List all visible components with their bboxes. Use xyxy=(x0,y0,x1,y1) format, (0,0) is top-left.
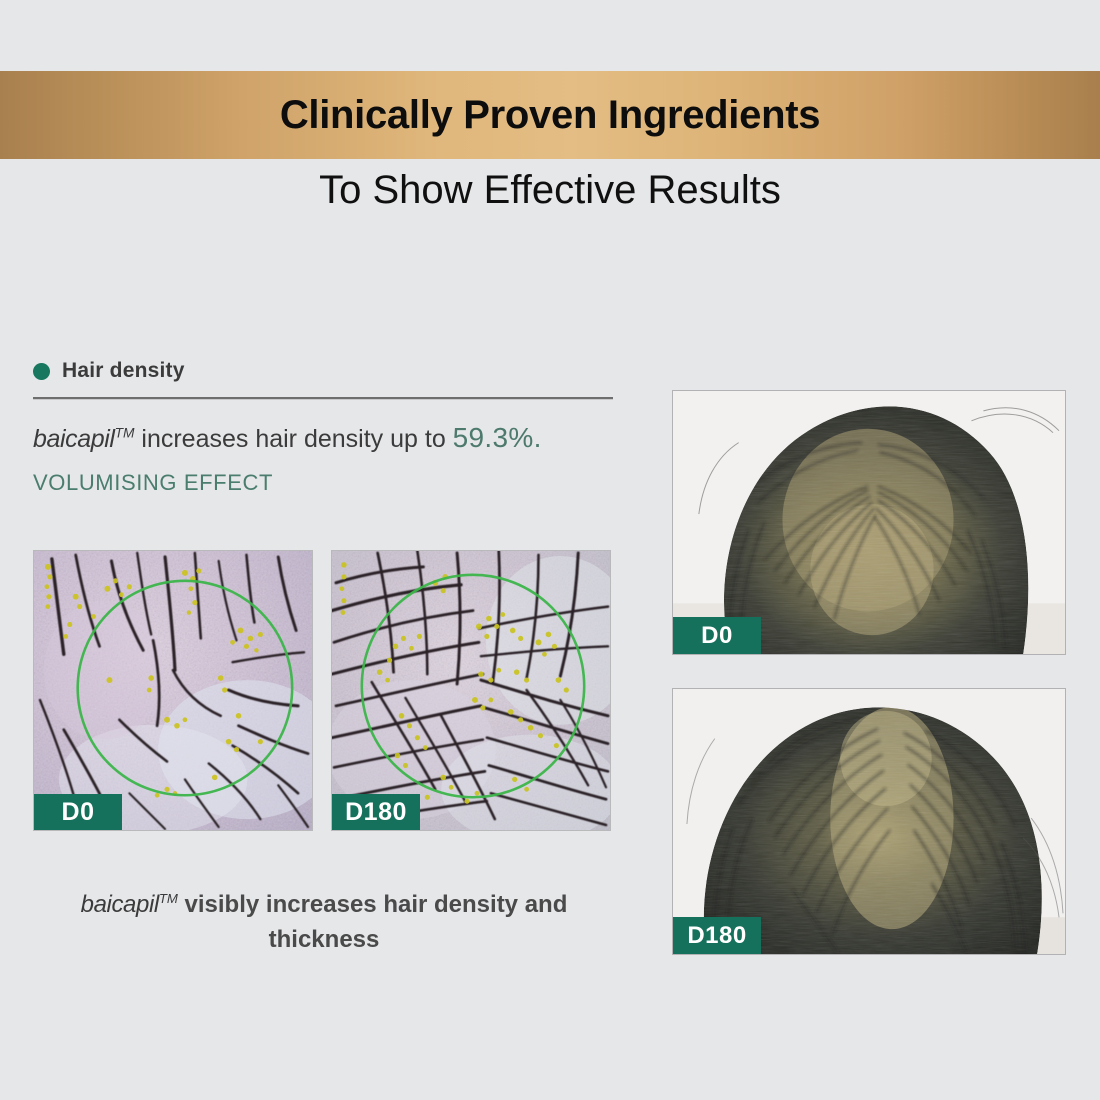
trademark-symbol: TM xyxy=(115,426,135,441)
micrograph-comparison: D0 xyxy=(33,550,615,832)
trichoscopy-baseline-image xyxy=(34,551,312,830)
caption-trademark-symbol: TM xyxy=(159,891,178,906)
section-divider xyxy=(33,397,613,400)
caption-brand-name: baicapilTM xyxy=(81,891,178,918)
badge-d0-photo: D0 xyxy=(673,617,761,654)
section-heading-row: Hair density xyxy=(33,356,615,386)
badge-d0-micrograph: D0 xyxy=(34,794,122,830)
trichoscopy-day180-image xyxy=(332,551,610,830)
micrograph-day180[interactable]: D180 xyxy=(331,550,611,831)
hair-density-section: Hair density baicapilTM increases hair d… xyxy=(33,356,615,496)
badge-d180-micrograph: D180 xyxy=(332,794,420,830)
micrograph-baseline[interactable]: D0 xyxy=(33,550,313,831)
section-heading-label: Hair density xyxy=(62,359,185,383)
scalp-photo-day180[interactable]: D180 xyxy=(672,688,1066,955)
scalp-photo-baseline[interactable]: D0 xyxy=(672,390,1066,655)
page-title: Clinically Proven Ingredients xyxy=(280,95,820,135)
page-subtitle: To Show Effective Results xyxy=(0,166,1100,214)
claim-middle-text: increases hair density up to xyxy=(134,425,452,453)
claim-percentage-value: 59.3%. xyxy=(453,422,542,453)
volumising-effect-label: VOLUMISING EFFECT xyxy=(33,470,615,496)
header-banner: Clinically Proven Ingredients xyxy=(0,71,1100,159)
micrograph-caption: baicapilTM visibly increases hair densit… xyxy=(33,888,615,958)
badge-d180-photo: D180 xyxy=(673,917,761,954)
bullet-dot-icon xyxy=(33,363,50,380)
scalp-photo-baseline-image xyxy=(673,391,1065,654)
caption-text: visibly increases hair density and thick… xyxy=(178,891,568,953)
brand-name: baicapilTM xyxy=(33,425,134,453)
scalp-photo-day180-image xyxy=(673,689,1065,954)
claim-statement: baicapilTM increases hair density up to … xyxy=(33,422,615,454)
